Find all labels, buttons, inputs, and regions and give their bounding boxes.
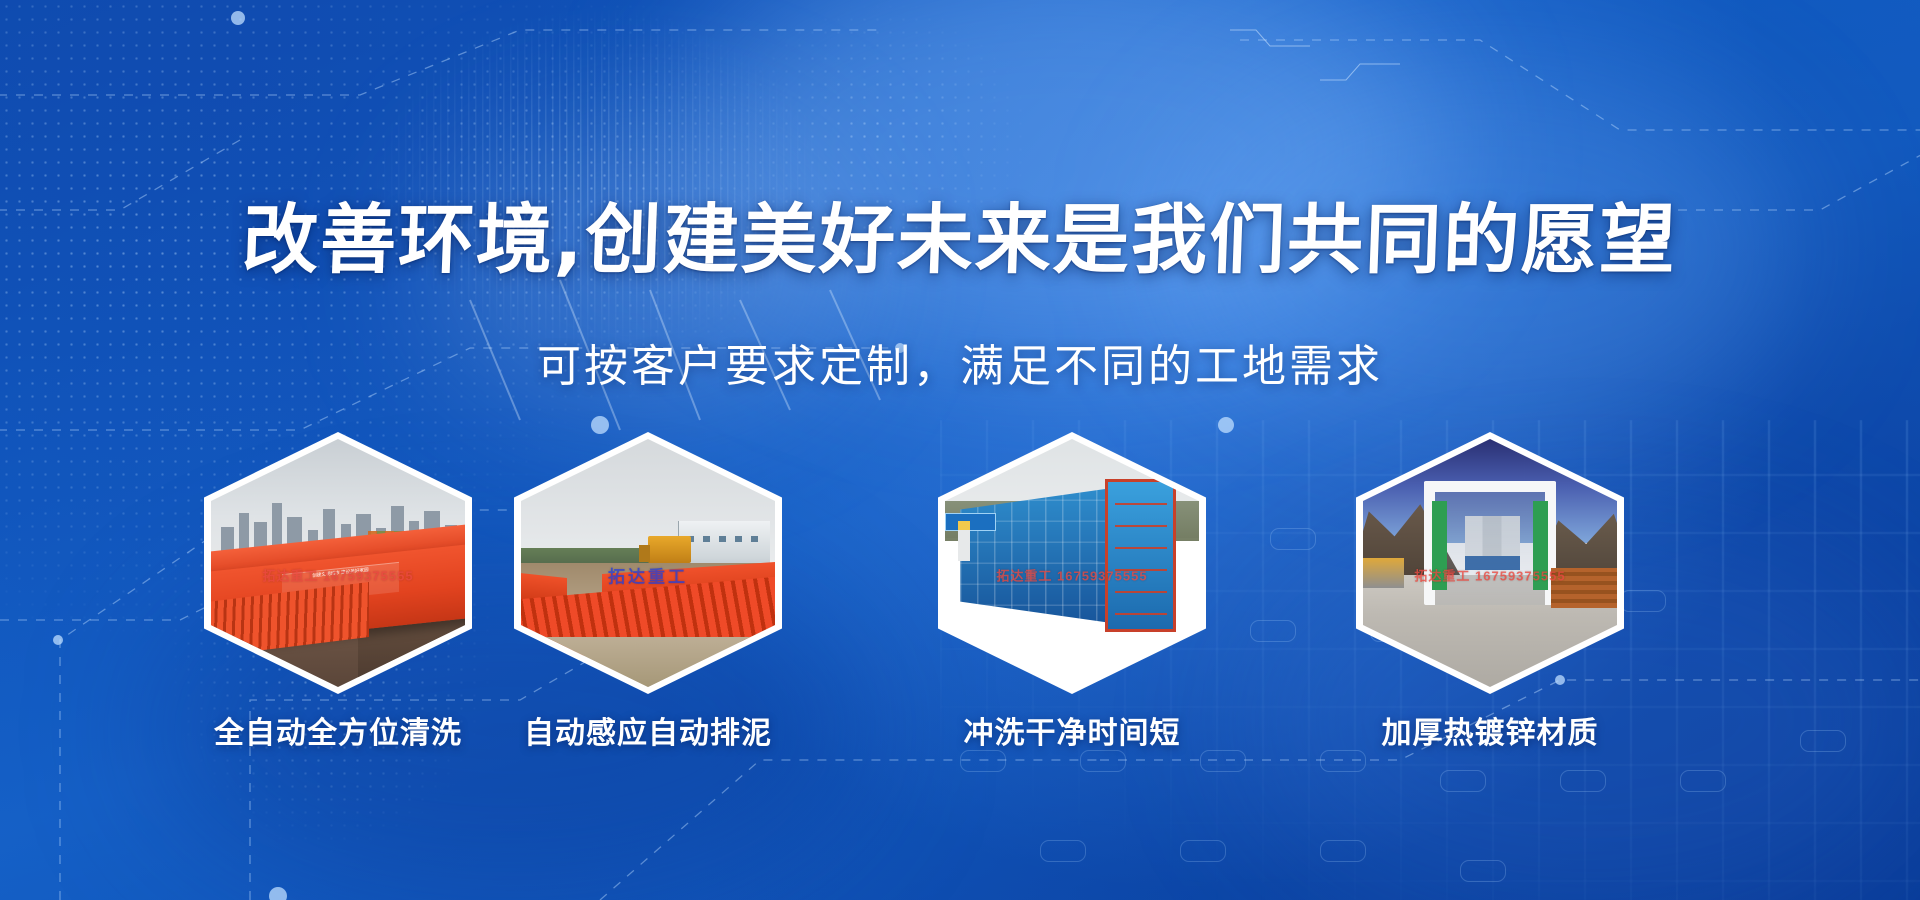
product-photo: 创建文明城市 建设美好家园 <box>211 439 465 687</box>
product-photo <box>945 439 1199 687</box>
hex-frame: 拓达重工 <box>514 432 782 694</box>
banner-subtitle: 可按客户要求定制，满足不同的工地需求 <box>0 330 1920 394</box>
hex-image-clip: 创建文明城市 建设美好家园 拓达重工 16759375555 <box>211 439 465 687</box>
product-photo <box>1363 439 1617 687</box>
feature-card-row: 创建文明城市 建设美好家园 拓达重工 16759375555 全自动全方位清洗 <box>0 432 1920 762</box>
banner-title: 改善环境,创建美好未来是我们共同的愿望 <box>0 178 1920 288</box>
feature-card-caption: 自动感应自动排泥 <box>484 708 812 752</box>
hex-image-clip: 拓达重工 <box>521 439 775 687</box>
feature-card-caption: 冲洗干净时间短 <box>908 708 1236 752</box>
feature-card-caption: 全自动全方位清洗 <box>174 708 502 752</box>
feature-card[interactable]: 拓达重工 16759375555 加厚热镀锌材质 <box>1356 432 1624 694</box>
feature-card[interactable]: 创建文明城市 建设美好家园 拓达重工 16759375555 全自动全方位清洗 <box>204 432 472 694</box>
hex-image-clip: 拓达重工 16759375555 <box>1363 439 1617 687</box>
hex-frame: 拓达重工 16759375555 <box>938 432 1206 694</box>
feature-card[interactable]: 拓达重工 16759375555 冲洗干净时间短 <box>938 432 1206 694</box>
hex-image-clip: 拓达重工 16759375555 <box>945 439 1199 687</box>
feature-card[interactable]: 拓达重工 自动感应自动排泥 <box>514 432 782 694</box>
hex-frame: 创建文明城市 建设美好家园 拓达重工 16759375555 <box>204 432 472 694</box>
feature-card-caption: 加厚热镀锌材质 <box>1326 708 1654 752</box>
hex-frame: 拓达重工 16759375555 <box>1356 432 1624 694</box>
promo-banner: 改善环境,创建美好未来是我们共同的愿望 可按客户要求定制，满足不同的工地需求 <box>0 0 1920 900</box>
product-photo <box>521 439 775 687</box>
